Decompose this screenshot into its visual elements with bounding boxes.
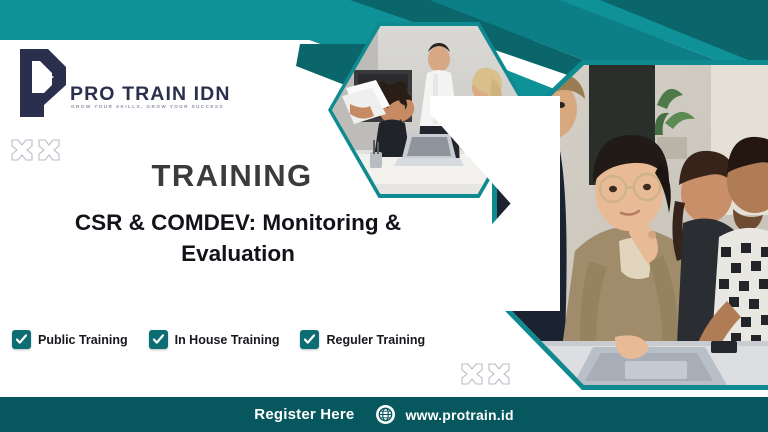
- check-icon: [15, 333, 28, 346]
- arrow-chevron-logo-icon: [14, 47, 72, 119]
- brand-name: PRO TRAIN IDN: [70, 83, 231, 106]
- website-url[interactable]: www.protrain.id: [405, 407, 513, 423]
- option-label: Reguler Training: [326, 333, 425, 347]
- option-public-training[interactable]: Public Training: [12, 330, 128, 349]
- page-title: CSR & COMDEV: Monitoring & Evaluation: [28, 208, 448, 270]
- check-icon: [152, 333, 165, 346]
- check-icon: [303, 333, 316, 346]
- footer-bar: Register Here www.protrain.id: [0, 397, 768, 432]
- brand-tagline: GROW YOUR SKILLS, GROW YOUR SUCCESS: [71, 104, 224, 109]
- training-type-options: Public Training In House Training Regule…: [12, 330, 425, 349]
- option-label: In House Training: [175, 333, 280, 347]
- checkbox-reguler-training[interactable]: [300, 330, 319, 349]
- checkbox-public-training[interactable]: [12, 330, 31, 349]
- training-promo-banner: PRO TRAIN IDN GROW YOUR SKILLS, GROW YOU…: [0, 0, 768, 432]
- option-reguler-training[interactable]: Reguler Training: [300, 330, 425, 349]
- brand-logo[interactable]: PRO TRAIN IDN GROW YOUR SKILLS, GROW YOU…: [14, 47, 184, 122]
- option-in-house-training[interactable]: In House Training: [149, 330, 280, 349]
- option-label: Public Training: [38, 333, 128, 347]
- globe-icon: [376, 405, 395, 424]
- register-here-label[interactable]: Register Here: [254, 406, 354, 423]
- checkbox-in-house-training[interactable]: [149, 330, 168, 349]
